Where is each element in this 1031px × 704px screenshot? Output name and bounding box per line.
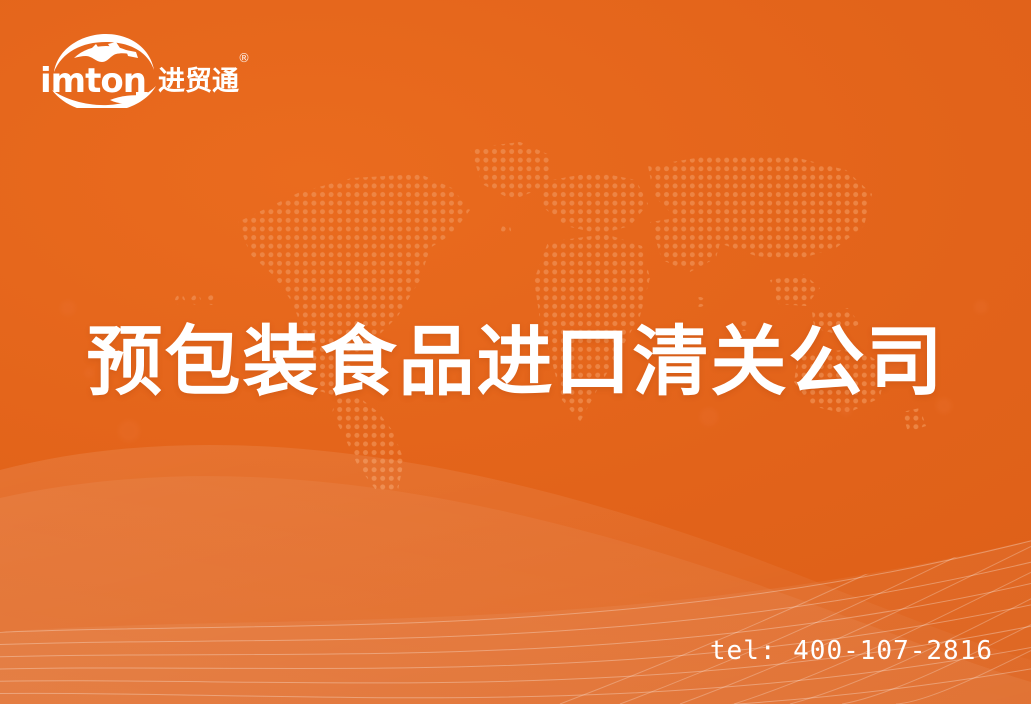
logo-chinese-text: 进贸通 <box>158 66 239 97</box>
registered-trademark-icon: ® <box>238 51 250 65</box>
brand-logo[interactable]: imton 进贸通 ® <box>38 30 253 108</box>
promo-banner: imton 进贸通 ® 预包装食品进口清关公司 tel: 400-107-281… <box>0 0 1031 704</box>
contact-phone: tel: 400-107-2816 <box>710 636 993 666</box>
bokeh-circle <box>974 300 988 314</box>
bokeh-circle <box>60 300 76 316</box>
bokeh-circle <box>700 408 718 426</box>
bokeh-circle <box>118 420 140 442</box>
world-map-dots <box>0 130 1031 490</box>
page-title: 预包装食品进口清关公司 <box>0 318 1031 406</box>
logo-latin-text: imton <box>40 61 146 101</box>
